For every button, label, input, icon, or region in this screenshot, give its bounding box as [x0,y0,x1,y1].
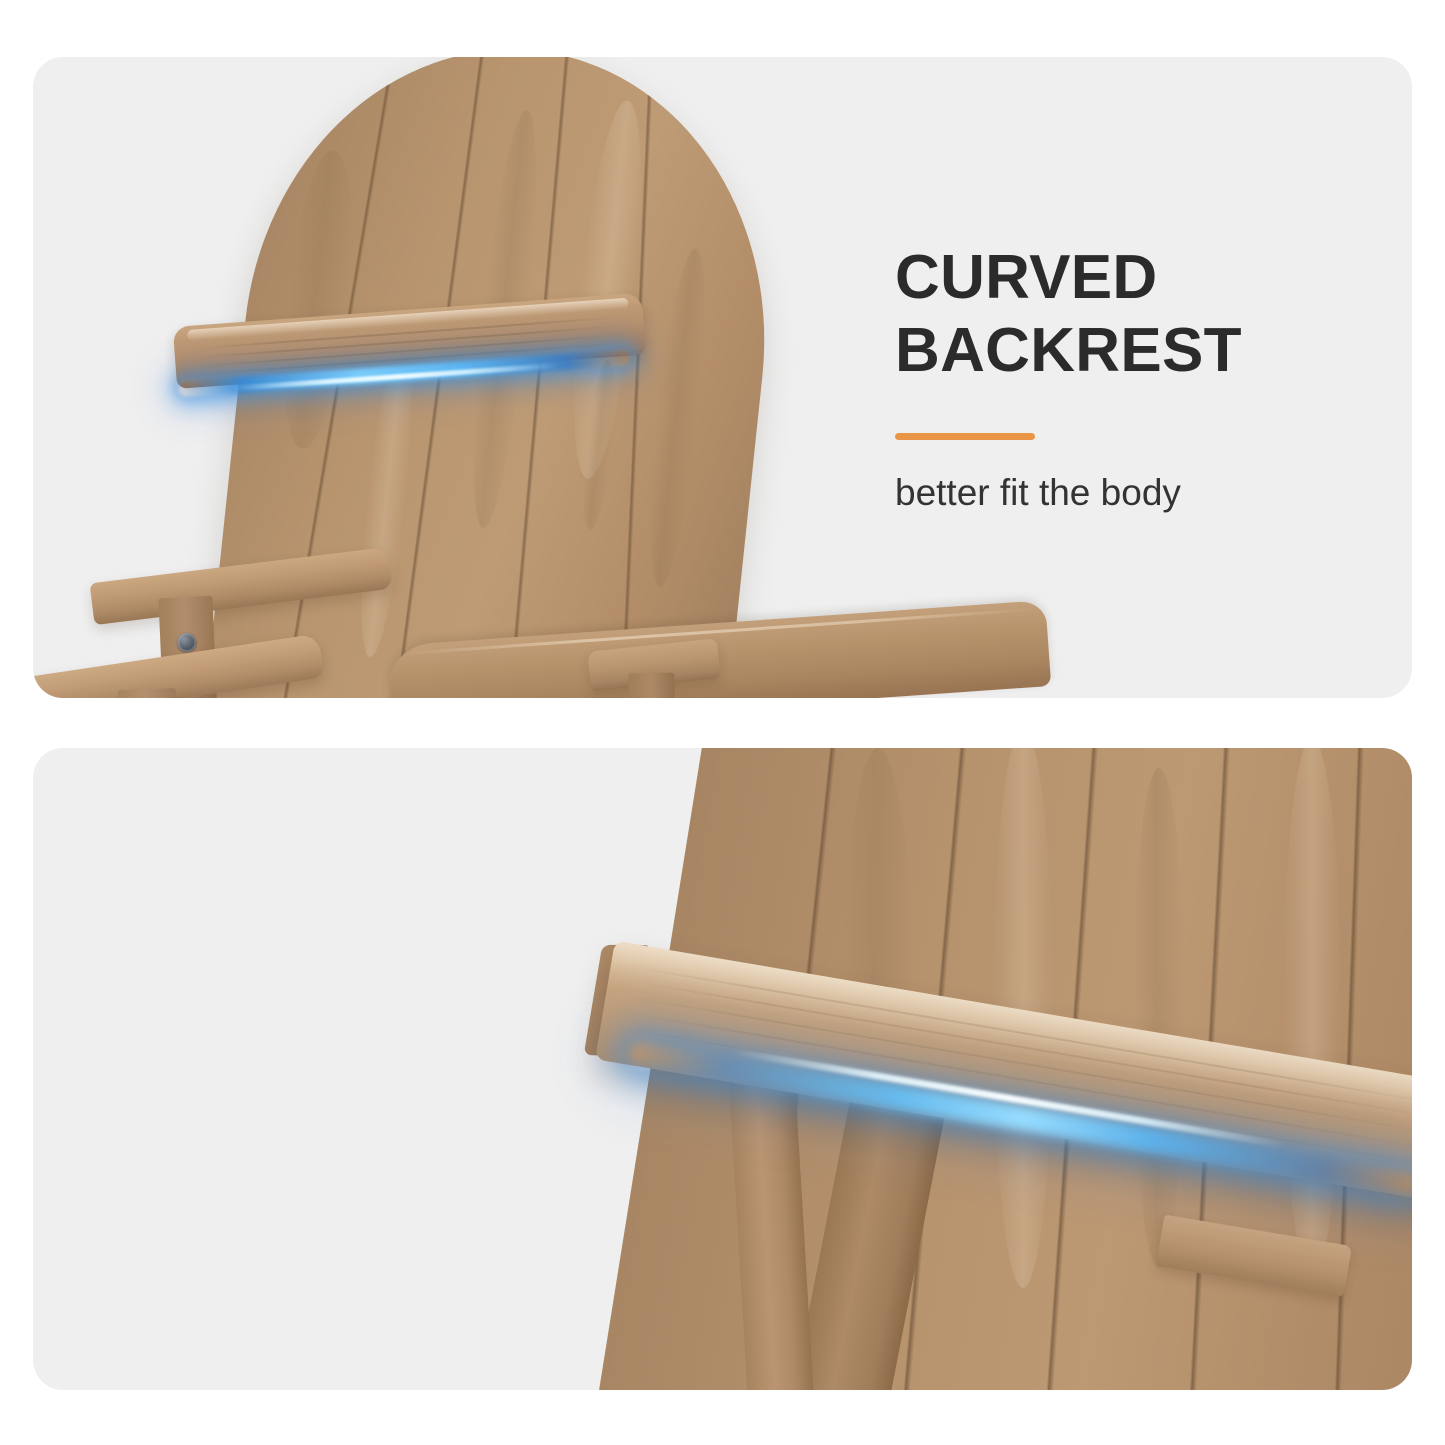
feature-panel-wide-armrests: WIDE ARMRESTS for better arm relaxation [33,748,1412,1390]
product-image-wide-armrests [33,748,1412,1390]
feature-subtitle: better fit the body [895,472,1365,514]
armrest-post-right [628,673,675,698]
wood-grain [1133,768,1185,1268]
accent-divider [895,433,1035,440]
wood-grain-highlight [351,337,422,659]
wood-grain [198,316,620,349]
wood-grain [640,247,715,589]
armrest-post-near [118,688,178,698]
feature-title: CURVED BACKREST [895,242,1365,387]
wood-grain-highlight [1283,748,1341,1278]
feature-panel-curved-backrest: CURVED BACKREST better fit the body [33,57,1412,698]
bolt-head-icon [177,633,197,653]
infographic-stage: CURVED BACKREST better fit the body [0,0,1445,1445]
feature-text-curved-backrest: CURVED BACKREST better fit the body [895,242,1365,514]
